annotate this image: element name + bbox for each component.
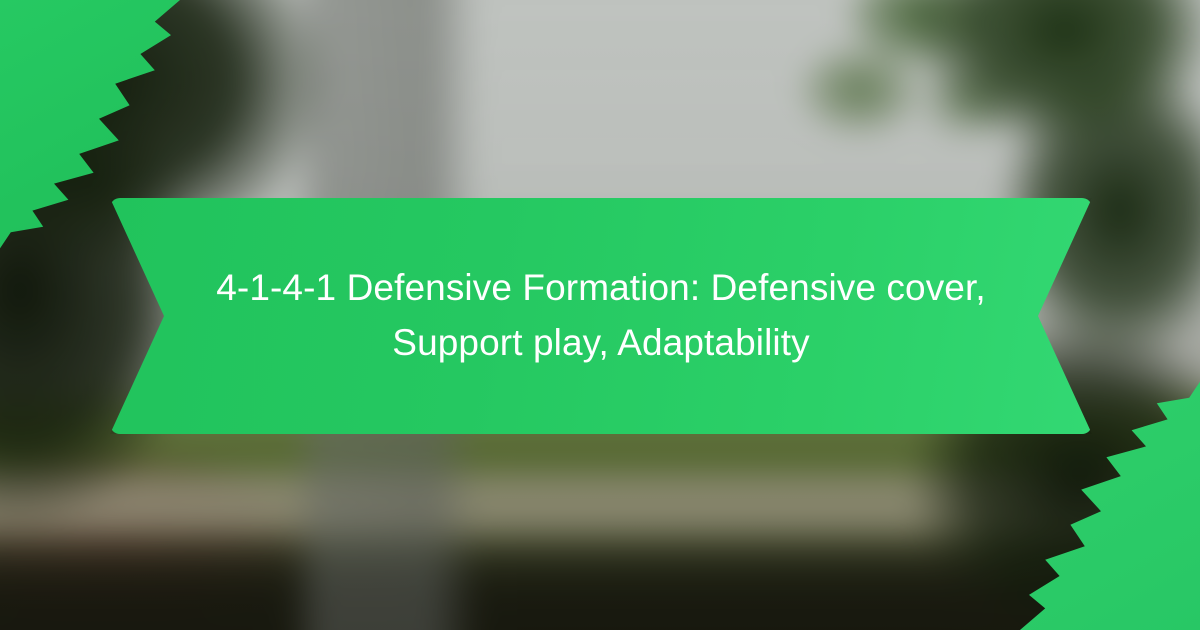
ribbon-content: 4-1-4-1 Defensive Formation: Defensive c… [206, 261, 996, 371]
ribbon-banner: 4-1-4-1 Defensive Formation: Defensive c… [110, 198, 1092, 434]
banner-canvas: 4-1-4-1 Defensive Formation: Defensive c… [0, 0, 1200, 630]
banner-title: 4-1-4-1 Defensive Formation: Defensive c… [216, 261, 986, 371]
